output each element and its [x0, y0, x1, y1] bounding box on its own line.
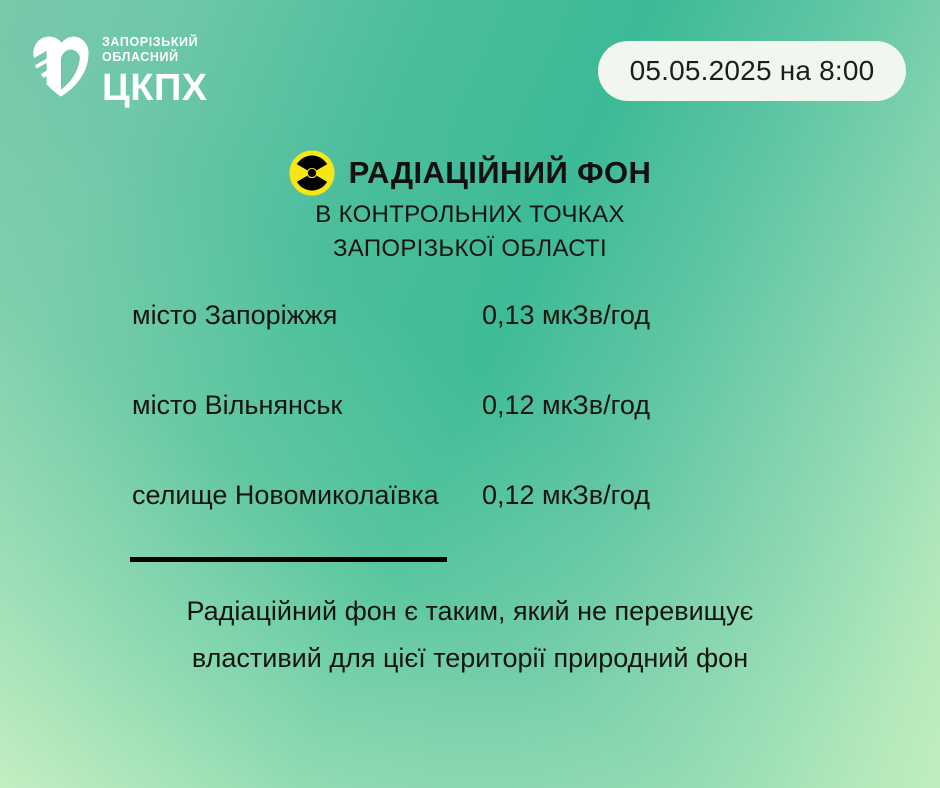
reading-value: 0,12 мкЗв/год	[482, 388, 650, 422]
reading-place: місто Запоріжжя	[0, 298, 482, 332]
brand-logo: ЗАПОРІЗЬКИЙ ОБЛАСНИЙ ЦКПХ	[30, 33, 208, 108]
reading-value: 0,12 мкЗв/год	[482, 478, 650, 512]
reading-row: селище Новомиколаївка 0,12 мкЗв/год	[0, 478, 940, 568]
footnote: Радіаційний фон є таким, який не перевищ…	[0, 588, 940, 682]
date-time-text: 05.05.2025 на 8:00	[630, 55, 875, 87]
brand-text: ЗАПОРІЗЬКИЙ ОБЛАСНИЙ ЦКПХ	[102, 33, 208, 108]
section-divider	[130, 557, 447, 562]
footnote-line-2: властивий для цієї території природний ф…	[60, 635, 880, 682]
brand-line-2: ОБЛАСНИЙ	[102, 50, 208, 65]
brand-line-1: ЗАПОРІЗЬКИЙ	[102, 35, 208, 50]
reading-place: селище Новомиколаївка	[0, 478, 482, 512]
page-subtitle-line-1: В КОНТРОЛЬНИХ ТОЧКАХ	[0, 200, 940, 230]
footnote-line-1: Радіаційний фон є таким, який не перевищ…	[60, 588, 880, 635]
brand-acronym: ЦКПХ	[102, 68, 208, 108]
reading-row: місто Запоріжжя 0,13 мкЗв/год	[0, 298, 940, 388]
reading-place: місто Вільнянськ	[0, 388, 482, 422]
poster-title-block: РАДІАЦІЙНИЙ ФОН В КОНТРОЛЬНИХ ТОЧКАХ ЗАП…	[0, 150, 940, 264]
reading-row: місто Вільнянськ 0,12 мкЗв/год	[0, 388, 940, 478]
radiation-hazard-icon	[289, 150, 335, 196]
reading-value: 0,13 мкЗв/год	[482, 298, 650, 332]
page-title: РАДІАЦІЙНИЙ ФОН	[349, 156, 652, 190]
readings-list: місто Запоріжжя 0,13 мкЗв/год місто Віль…	[0, 298, 940, 568]
page-subtitle-line-2: ЗАПОРІЗЬКОЇ ОБЛАСТІ	[0, 234, 940, 264]
date-time-badge: 05.05.2025 на 8:00	[598, 41, 906, 101]
radiation-background-poster: ЗАПОРІЗЬКИЙ ОБЛАСНИЙ ЦКПХ 05.05.2025 на …	[0, 0, 940, 788]
title-row: РАДІАЦІЙНИЙ ФОН	[0, 150, 940, 196]
shield-heart-logo-icon	[30, 35, 92, 107]
